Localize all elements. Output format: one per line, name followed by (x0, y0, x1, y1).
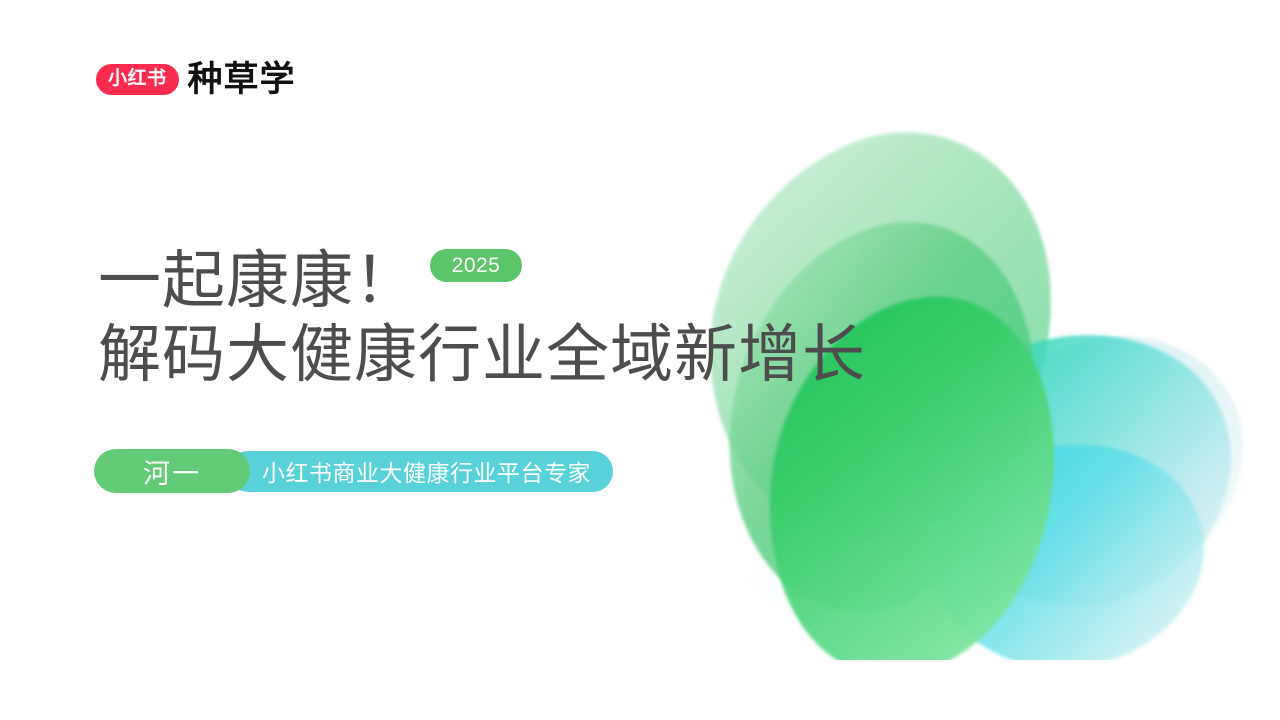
title-row-2: 解码大健康行业全域新增长 (98, 318, 918, 392)
title-row-1: 一起康康！ 2025 (98, 244, 918, 318)
speaker-row: 河一 小红书商业大健康行业平台专家 (94, 449, 613, 493)
speaker-role-badge: 小红书商业大健康行业平台专家 (228, 451, 613, 492)
title-line-1: 一起康康！ (98, 244, 418, 318)
slide-canvas: 小红书 种草学 一起康康！ 2025 解码大健康行业全域新增长 河一 小红书商业… (0, 0, 1280, 720)
brand-badge-text: 小红书 (108, 69, 167, 88)
title-line-2: 解码大健康行业全域新增长 (98, 318, 866, 392)
title-block: 一起康康！ 2025 解码大健康行业全域新增长 (98, 244, 918, 392)
brand-logo: 小红书 种草学 (96, 62, 296, 97)
xiaohongshu-logo-badge: 小红书 (96, 64, 179, 95)
brand-wordmark: 种草学 (188, 62, 296, 97)
speaker-name-badge: 河一 (94, 449, 250, 493)
year-badge: 2025 (430, 249, 522, 282)
